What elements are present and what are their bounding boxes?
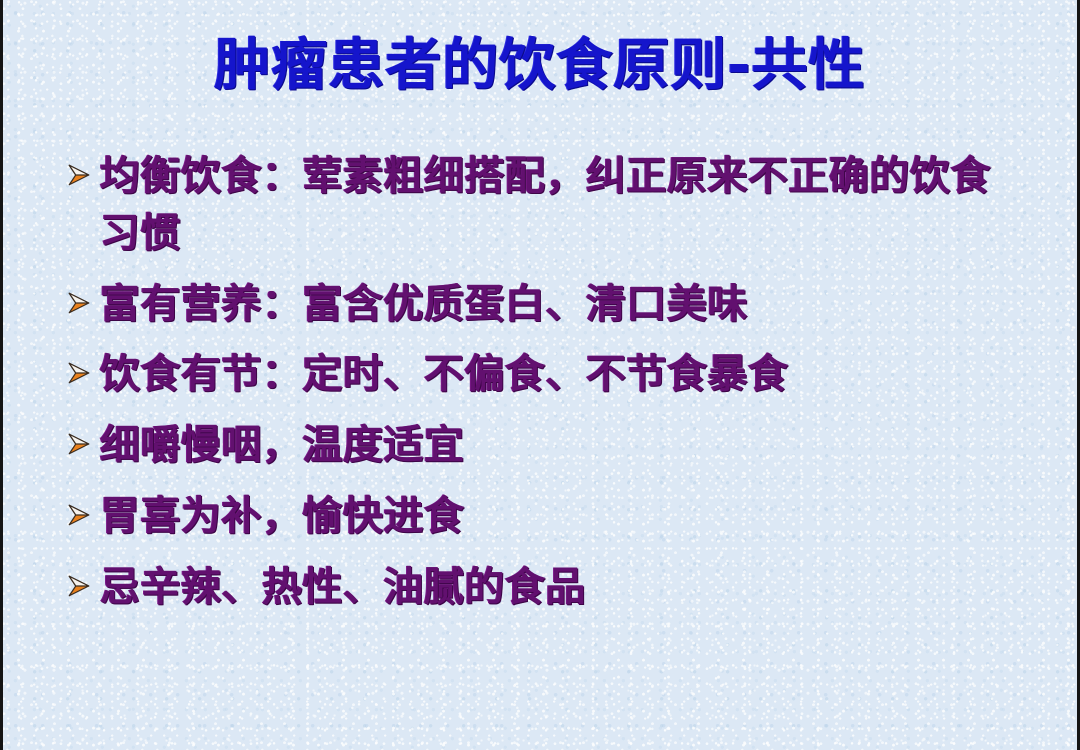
list-item: 细嚼慢咽，温度适宜 bbox=[66, 417, 1056, 474]
list-item: 忌辛辣、热性、油腻的食品 bbox=[66, 559, 1056, 616]
arrowhead-bullet-icon bbox=[66, 421, 100, 467]
arrowhead-bullet-icon bbox=[66, 350, 100, 396]
list-item-label: 饮食有节：定时、不偏食、不节食暴食 bbox=[100, 346, 1056, 403]
list-item-label: 均衡饮食：荤素粗细搭配，纠正原来不正确的饮食习惯 bbox=[100, 148, 1005, 262]
list-item-label: 富有营养：富含优质蛋白、清口美味 bbox=[100, 276, 1056, 333]
arrowhead-bullet-icon bbox=[66, 563, 100, 609]
list-item-label: 细嚼慢咽，温度适宜 bbox=[100, 417, 1056, 474]
list-item: 胃喜为补，愉快进食 bbox=[66, 488, 1056, 545]
slide-canvas: 肿瘤患者的饮食原则-共性 均衡饮食：荤素粗细搭配，纠正原来不正确的饮食习惯 bbox=[0, 0, 1080, 750]
bullet-list: 均衡饮食：荤素粗细搭配，纠正原来不正确的饮食习惯 富有营养：富含优质蛋白、清口美… bbox=[66, 148, 1056, 630]
list-item-label: 忌辛辣、热性、油腻的食品 bbox=[100, 559, 1056, 616]
list-item: 均衡饮食：荤素粗细搭配，纠正原来不正确的饮食习惯 bbox=[66, 148, 1056, 262]
slide-title: 肿瘤患者的饮食原则-共性 bbox=[0, 34, 1080, 98]
arrowhead-bullet-icon bbox=[66, 492, 100, 538]
list-item-label: 胃喜为补，愉快进食 bbox=[100, 488, 1056, 545]
slide-content: 肿瘤患者的饮食原则-共性 均衡饮食：荤素粗细搭配，纠正原来不正确的饮食习惯 bbox=[0, 0, 1080, 750]
list-item: 富有营养：富含优质蛋白、清口美味 bbox=[66, 276, 1056, 333]
list-item: 饮食有节：定时、不偏食、不节食暴食 bbox=[66, 346, 1056, 403]
arrowhead-bullet-icon bbox=[66, 280, 100, 326]
arrowhead-bullet-icon bbox=[66, 152, 100, 198]
